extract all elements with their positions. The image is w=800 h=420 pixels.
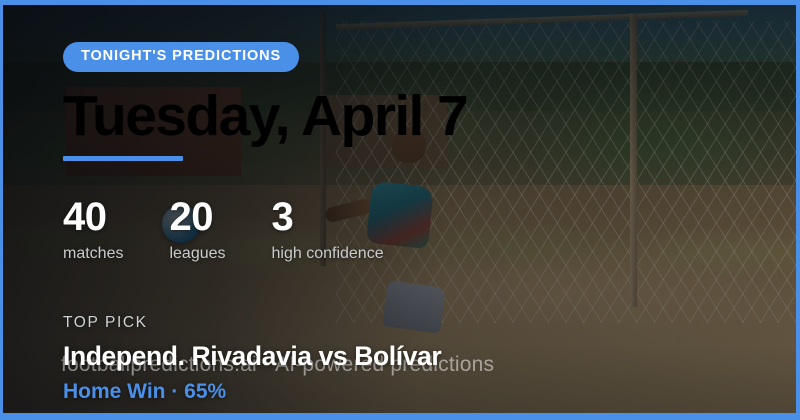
page-title: Tuesday, April 7 <box>63 88 467 145</box>
stat-high-confidence: 3 high confidence <box>272 197 384 262</box>
card-content: TONIGHT'S PREDICTIONS Tuesday, April 7 4… <box>3 5 796 413</box>
prediction-card: TONIGHT'S PREDICTIONS Tuesday, April 7 4… <box>0 0 800 420</box>
stat-high-confidence-label: high confidence <box>272 246 384 262</box>
stat-leagues-value: 20 <box>169 197 225 237</box>
title-accent-bar <box>63 156 183 161</box>
stat-leagues-label: leagues <box>169 246 225 262</box>
stat-high-confidence-value: 3 <box>272 197 384 237</box>
stat-matches-value: 40 <box>63 197 123 237</box>
stat-matches-label: matches <box>63 246 123 262</box>
stats-row: 40 matches 20 leagues 3 high confidence <box>63 197 384 262</box>
stat-matches: 40 matches <box>63 197 123 262</box>
top-pick-label: TOP PICK <box>63 315 441 331</box>
top-pick-match-title: Independ. Rivadavia vs Bolívar <box>63 343 441 370</box>
stat-leagues: 20 leagues <box>169 197 225 262</box>
top-pick-prediction: Home Win · 65% <box>63 381 441 402</box>
tonights-predictions-badge: TONIGHT'S PREDICTIONS <box>63 42 299 72</box>
top-pick-section: TOP PICK Independ. Rivadavia vs Bolívar … <box>63 315 441 402</box>
